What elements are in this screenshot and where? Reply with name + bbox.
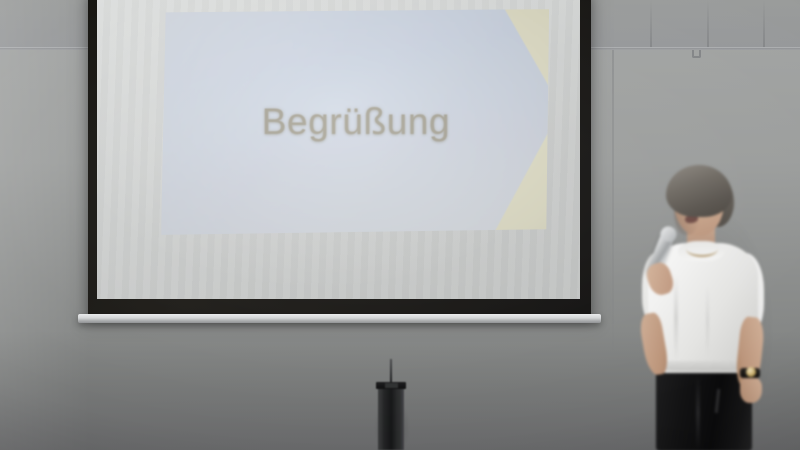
photo-vignette (0, 0, 800, 450)
photo-scene: Begrüßung (0, 0, 800, 450)
